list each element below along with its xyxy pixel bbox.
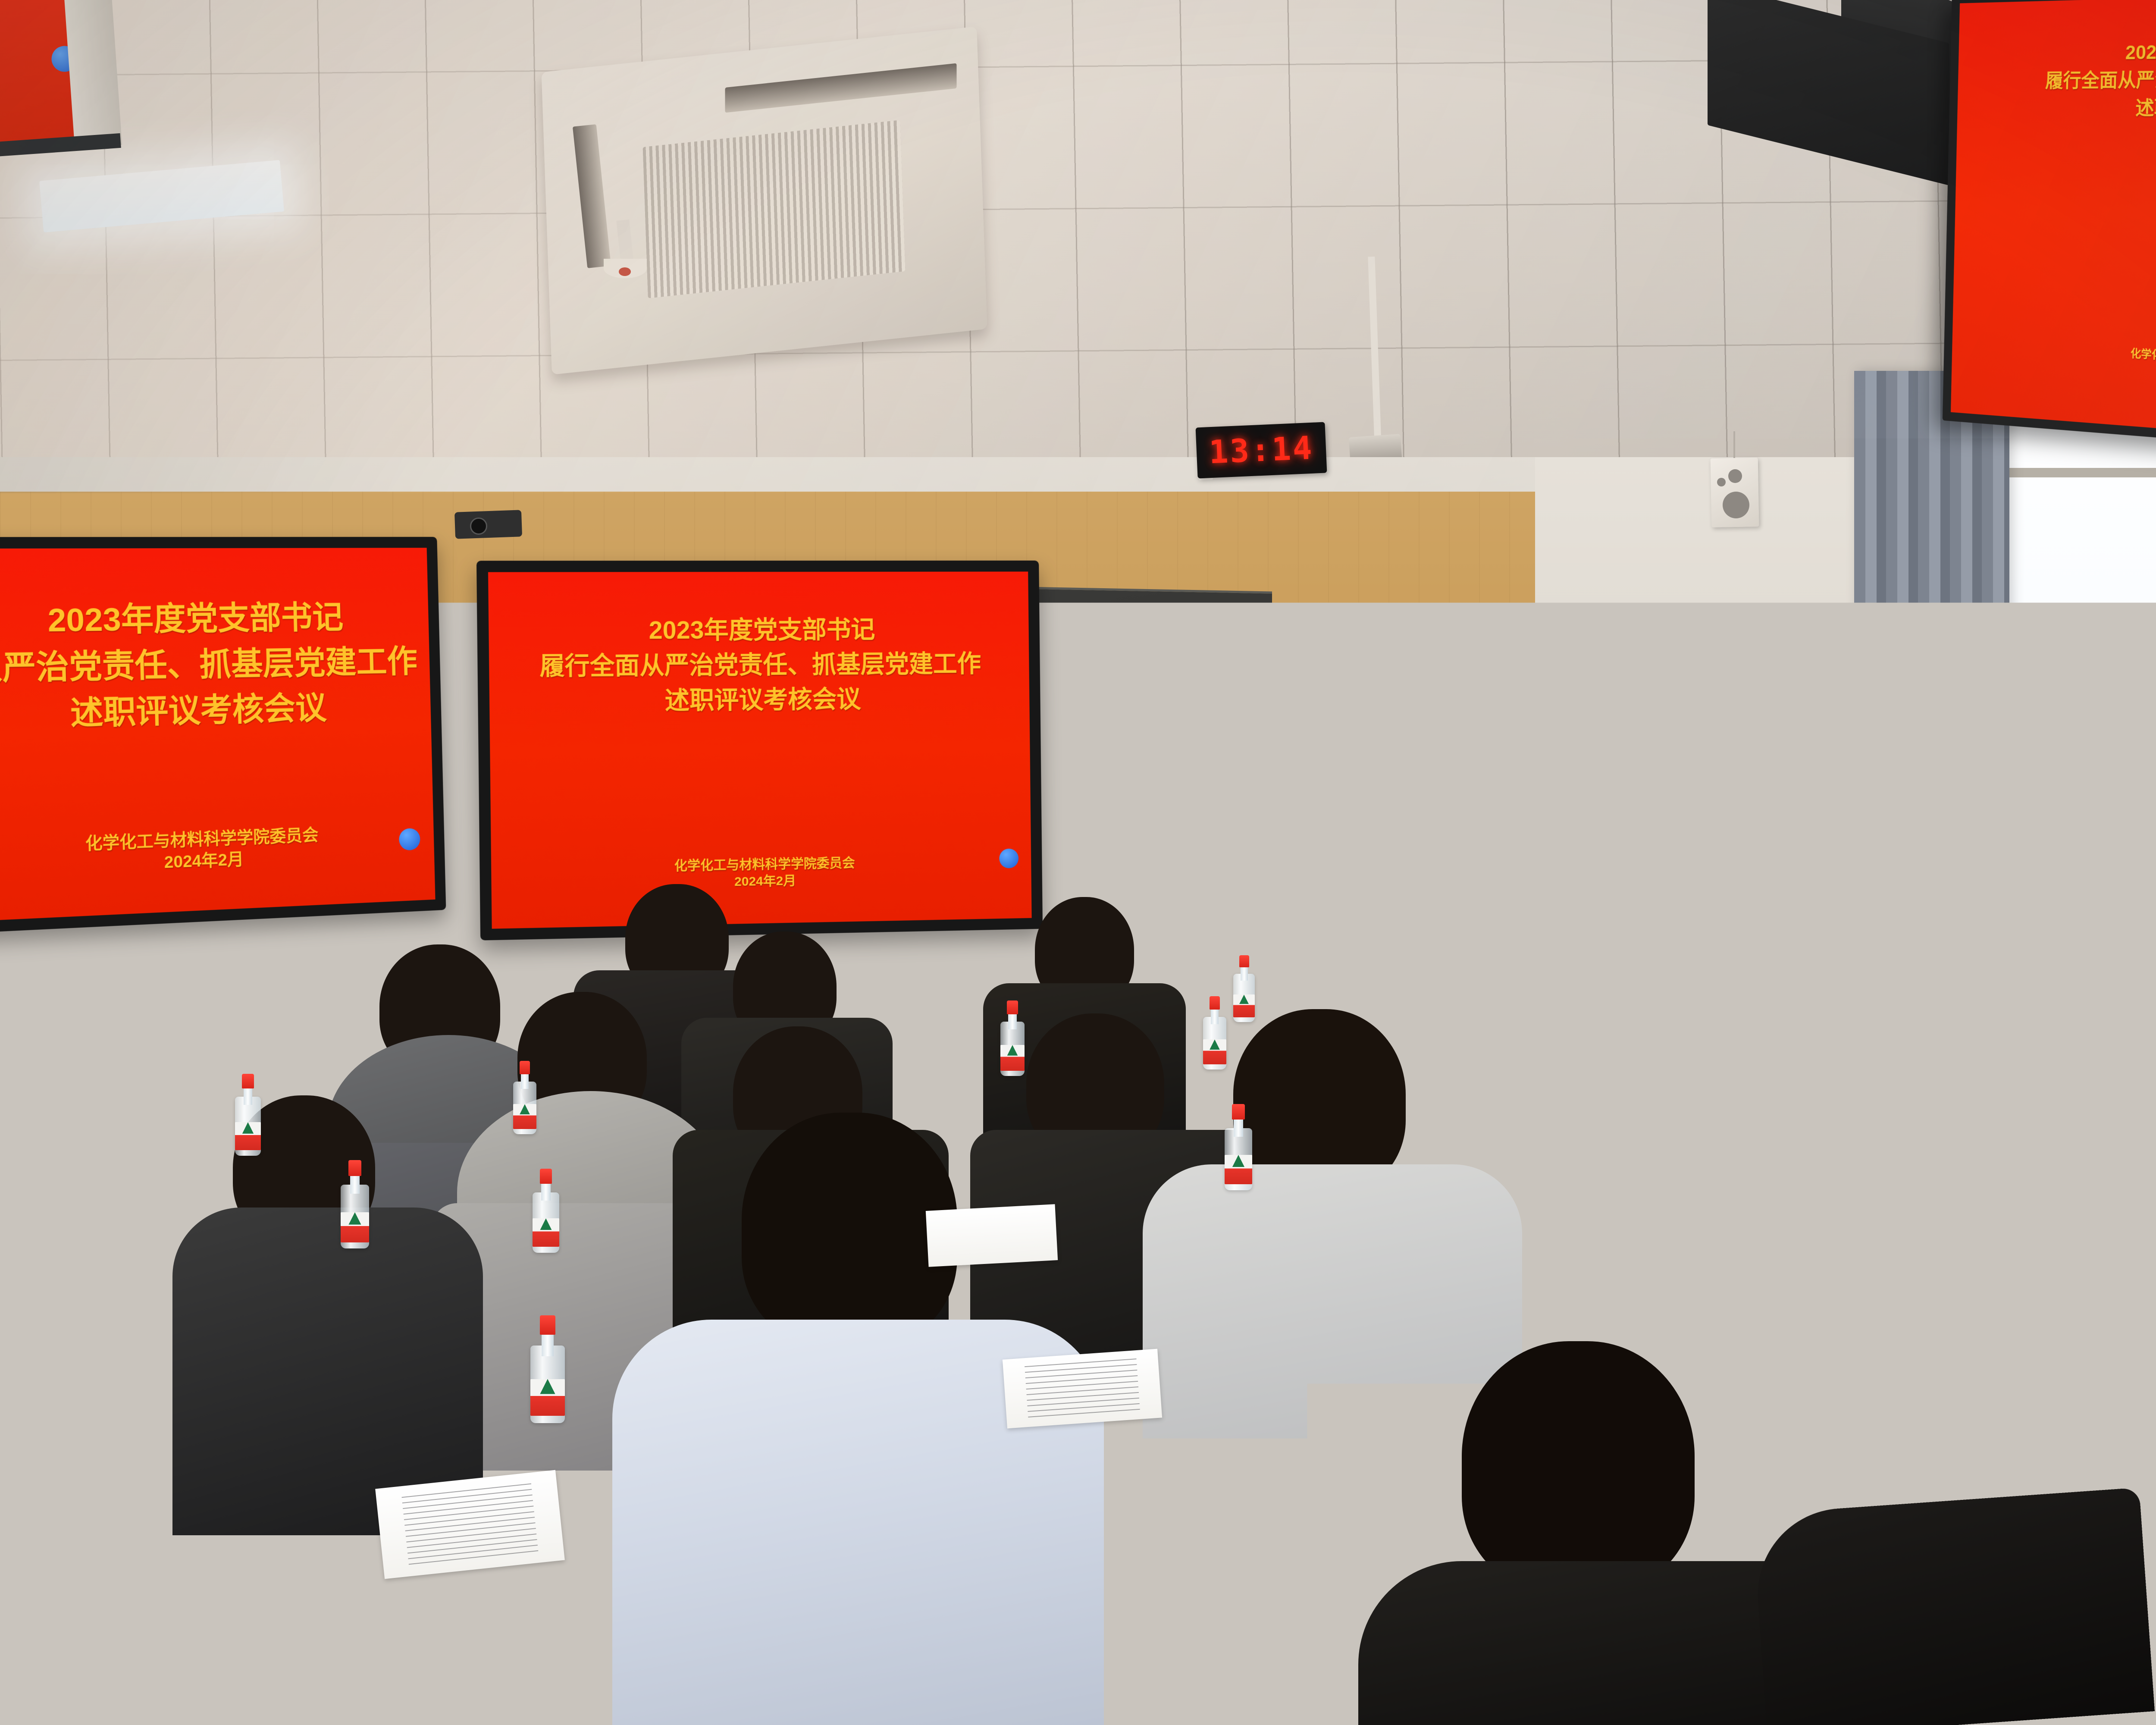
bottle-cap: [540, 1315, 556, 1335]
room-camera: [454, 510, 522, 539]
document-text-lines: [401, 1483, 538, 1565]
rack-display-window-bottom: [1514, 724, 1540, 751]
hanging-slide-body: 2023年度党支部书记 履行全面从严治党责任、抓基层党建工作 述职评议考核会议: [2044, 34, 2156, 122]
document-paper: [926, 1204, 1058, 1267]
touchpanel-blue-icon: [1371, 757, 1388, 776]
bottle-cap: [1683, 979, 1694, 991]
glasses-icon: [1207, 738, 1253, 743]
hanging-slide-footer: 化学化工与材料科学学院委员会 2024年2月: [1952, 336, 2156, 399]
left-slide-footer: 化学化工与材料科学学院委员会 2024年2月: [0, 820, 434, 883]
ac-grille-icon: [643, 120, 906, 298]
bottle-neck: [542, 1333, 553, 1356]
bottle-neck: [1211, 1008, 1219, 1024]
document-paper: [1003, 1349, 1162, 1429]
right-slide-line1: 2023年度党支部书记: [539, 612, 981, 649]
chair-back-slot: [1429, 978, 1503, 987]
hanging-slide: 2023年度党支部书记 履行全面从严治党责任、抓基层党建工作 述职评议考核会议 …: [1951, 0, 2156, 454]
chair: [1413, 961, 1523, 1044]
display-screen-left: 2023年度党支部书记 从严治党责任、抓基层党建工作 述职评议考核会议 化学化工…: [0, 537, 446, 934]
water-bottle[interactable]: [1233, 955, 1255, 1022]
window-mullion-horizontal: [2005, 468, 2156, 477]
bottle-neck: [1896, 1368, 1909, 1394]
touchpanel-card-icon: [1396, 754, 1414, 779]
left-slide-body: 2023年度党支部书记 从严治党责任、抓基层党建工作 述职评议考核会议: [0, 594, 419, 739]
hanging-slide-line1: 2023年度党支部书记: [2046, 34, 2156, 67]
water-bottle[interactable]: [533, 1169, 559, 1253]
chair: [85, 1100, 213, 1203]
camera-lens-icon: [470, 517, 487, 535]
right-slide-line2: 履行全面从严治党责任、抓基层党建工作: [539, 646, 981, 684]
left-slide-line2: 从严治党责任、抓基层党建工作: [0, 639, 418, 692]
bottle-neck: [541, 1182, 550, 1201]
bottle-cap: [1580, 964, 1590, 977]
water-bottle[interactable]: [1699, 1138, 1727, 1225]
bottle-cap: [1887, 988, 1897, 1001]
hanging-slide-line3: 述职评议考核会议: [2044, 93, 2156, 122]
bottle-cap: [1706, 1138, 1719, 1154]
bottle-cap: [1875, 1130, 1888, 1146]
bottle-neck: [1241, 966, 1248, 981]
person-torso: [1949, 1082, 2156, 1376]
bottle-cap: [1894, 1350, 1912, 1371]
water-bottle[interactable]: [1996, 970, 2019, 1041]
water-bottle[interactable]: [1884, 1350, 1921, 1466]
water-bottle[interactable]: [1677, 979, 1700, 1048]
bottle-neck: [521, 1073, 529, 1088]
bottle-cap: [1007, 1000, 1018, 1014]
bottle-cap: [1499, 1048, 1510, 1062]
rack-display-window-top: [1514, 677, 1540, 704]
rack-indicator: [1521, 709, 1536, 719]
water-bottle[interactable]: [530, 1315, 565, 1423]
bottle-cap: [1232, 1104, 1244, 1120]
document-text-lines: [1800, 1255, 1908, 1306]
right-slide: 2023年度党支部书记 履行全面从严治党责任、抓基层党建工作 述职评议考核会议 …: [488, 571, 1032, 928]
classroom-meeting-photo: 13:14 2023年度党支部书记 履行全面从严治党责任、抓基层党建工作 述职评…: [0, 0, 2156, 1725]
left-slide-line1: 2023年度党支部书记: [0, 594, 417, 645]
person-torso: [1752, 1487, 2155, 1725]
water-bottle[interactable]: [1574, 964, 1596, 1035]
water-bottle[interactable]: [513, 1061, 536, 1134]
bottle-neck: [2004, 982, 2012, 997]
water-bottle[interactable]: [341, 1160, 369, 1248]
bottle-neck: [1708, 1152, 1717, 1171]
bottle-cap: [348, 1160, 361, 1176]
bottle-neck: [1877, 1145, 1887, 1164]
bottle-cap: [540, 1169, 552, 1184]
bottle-cap: [520, 1061, 530, 1074]
bottle-neck: [350, 1174, 360, 1194]
bottle-neck: [1888, 999, 1896, 1015]
water-bottle[interactable]: [1203, 996, 1226, 1069]
person-head: [1462, 1341, 1695, 1591]
bottle-cap: [242, 1074, 254, 1088]
clock-time-readout: 13:14: [1208, 430, 1314, 471]
bottle-neck: [1008, 1013, 1016, 1029]
bottle-neck: [1581, 975, 1589, 991]
speaker-small-driver-icon: [1717, 478, 1726, 486]
water-bottle[interactable]: [235, 1074, 261, 1156]
bottle-neck: [1685, 990, 1692, 1005]
bottle-neck: [244, 1087, 252, 1105]
water-bottle[interactable]: [1867, 1130, 1896, 1220]
face-mask-icon: [1205, 745, 1253, 781]
bottle-cap: [1210, 996, 1220, 1010]
document-paper: [1439, 1115, 1570, 1171]
display-screen-right: 2023年度党支部书记 履行全面从严治党责任、抓基层党建工作 述职评议考核会议 …: [476, 561, 1043, 941]
bottle-cap: [2002, 970, 2013, 983]
hanging-slide-line2: 履行全面从严治党责任、抓基层党建工作: [2045, 64, 2156, 94]
left-slide-line3: 述职评议考核会议: [0, 683, 419, 739]
person-torso: [2134, 1052, 2156, 1320]
wall-digital-clock: 13:14: [1196, 422, 1327, 479]
water-bottle[interactable]: [1492, 1048, 1517, 1126]
lectern-label: [1332, 916, 1380, 926]
bottle-cap: [1239, 955, 1249, 967]
speaker-tweeter-icon: [1728, 469, 1742, 483]
speaker-woofer-icon: [1723, 492, 1749, 518]
person-head: [742, 1113, 957, 1345]
right-slide-body: 2023年度党支部书记 履行全面从严治党责任、抓基层党建工作 述职评议考核会议: [539, 612, 981, 719]
left-slide: 2023年度党支部书记 从严治党责任、抓基层党建工作 述职评议考核会议 化学化工…: [0, 548, 436, 922]
water-bottle[interactable]: [1225, 1104, 1252, 1190]
bottle-neck: [1234, 1118, 1243, 1137]
right-slide-footer: 化学化工与材料科学学院委员会 2024年2月: [491, 852, 1031, 895]
document-text-lines: [1025, 1358, 1140, 1418]
sprinkler-bulb: [619, 267, 631, 276]
document-paper: [1896, 1076, 2010, 1123]
right-slide-line3: 述职评议考核会议: [540, 681, 981, 719]
document-paper: [375, 1470, 565, 1579]
hanging-display-screen: 2023年度党支部书记 履行全面从严治党责任、抓基层党建工作 述职评议考核会议 …: [1943, 0, 2156, 465]
water-bottle[interactable]: [1000, 1000, 1025, 1076]
chair-back-slot: [1548, 1300, 1639, 1309]
water-bottle[interactable]: [1880, 988, 1903, 1061]
speaker-wire: [1733, 431, 1735, 459]
